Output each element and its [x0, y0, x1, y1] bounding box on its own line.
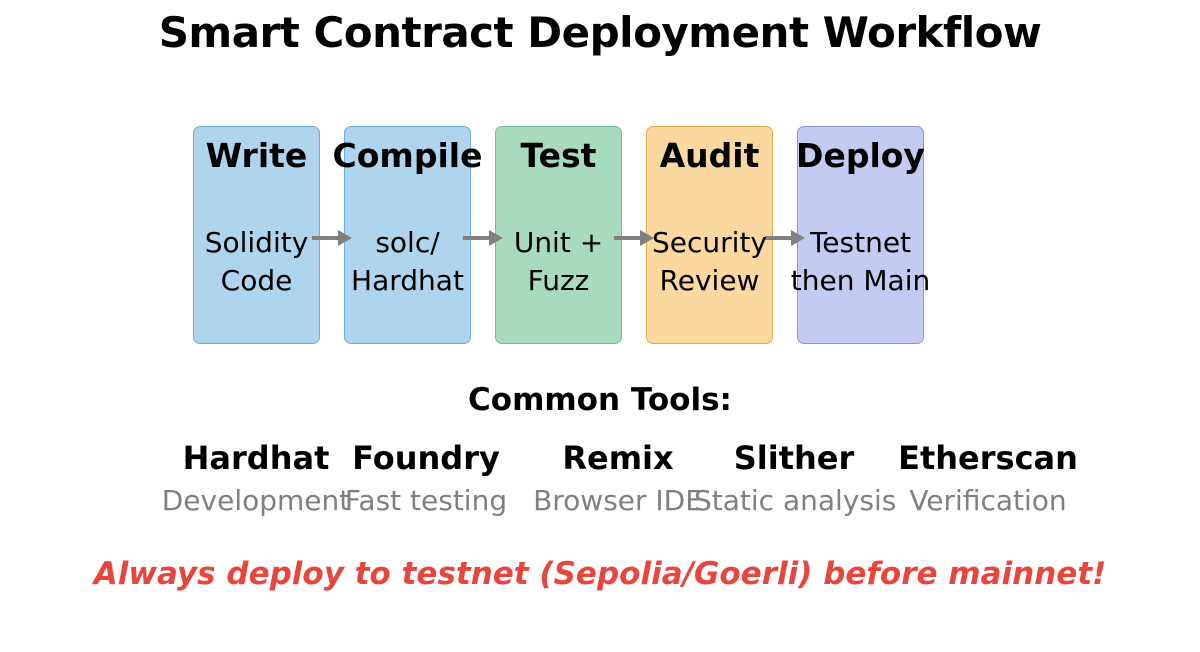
tool-item-remix: RemixBrowser IDE	[518, 436, 718, 522]
flow-step-description-line2: Code	[205, 262, 309, 300]
flow-arrow-icon	[312, 227, 352, 249]
flow-step-title: Write	[206, 132, 308, 180]
flow-step-description: solc/Hardhat	[351, 224, 464, 300]
flow-step-title: Test	[521, 132, 597, 180]
flow-step-description-line2: Hardhat	[351, 262, 464, 300]
flow-step-description-line1: solc/	[351, 224, 464, 262]
tool-item-slither: SlitherStatic analysis	[694, 436, 894, 522]
flow-step-audit: AuditSecurityReview	[646, 126, 773, 344]
tool-item-foundry: FoundryFast testing	[326, 436, 526, 522]
flow-step-description-line1: Testnet	[791, 224, 930, 262]
tool-description: Fast testing	[326, 480, 526, 522]
flow-step-title: Deploy	[796, 132, 925, 180]
flow-step-title: Compile	[333, 132, 483, 180]
flow-step-description-line1: Security	[652, 224, 767, 262]
tool-name: Slither	[694, 436, 894, 480]
flow-step-write: WriteSolidityCode	[193, 126, 320, 344]
tool-name: Foundry	[326, 436, 526, 480]
flow-step-test: TestUnit +Fuzz	[495, 126, 622, 344]
flow-step-description-line1: Solidity	[205, 224, 309, 262]
tool-description: Verification	[888, 480, 1088, 522]
flow-step-title: Audit	[660, 132, 760, 180]
tool-name: Remix	[518, 436, 718, 480]
flow-step-description-line2: Fuzz	[514, 262, 603, 300]
tool-description: Browser IDE	[518, 480, 718, 522]
flow-step-description-line2: Review	[652, 262, 767, 300]
flow-step-compile: Compilesolc/Hardhat	[344, 126, 471, 344]
flow-step-description: Unit +Fuzz	[514, 224, 603, 300]
flow-step-deploy: DeployTestnetthen Main	[797, 126, 924, 344]
flow-step-description-line1: Unit +	[514, 224, 603, 262]
common-tools-heading: Common Tools:	[0, 382, 1200, 418]
tool-item-etherscan: EtherscanVerification	[888, 436, 1088, 522]
workflow-flow-diagram: WriteSolidityCodeCompilesolc/HardhatTest…	[0, 126, 1200, 346]
page-title: Smart Contract Deployment Workflow	[0, 8, 1200, 57]
tool-description: Static analysis	[694, 480, 894, 522]
flow-step-description: Testnetthen Main	[791, 224, 930, 300]
common-tools-row: HardhatDevelopmentFoundryFast testingRem…	[0, 436, 1200, 526]
tool-name: Etherscan	[888, 436, 1088, 480]
warning-note: Always deploy to testnet (Sepolia/Goerli…	[0, 556, 1200, 592]
flow-step-description-line2: then Main	[791, 262, 930, 300]
flow-arrow-icon	[614, 227, 654, 249]
flow-arrow-icon	[463, 227, 503, 249]
flow-step-description: SolidityCode	[205, 224, 309, 300]
flow-step-description: SecurityReview	[652, 224, 767, 300]
